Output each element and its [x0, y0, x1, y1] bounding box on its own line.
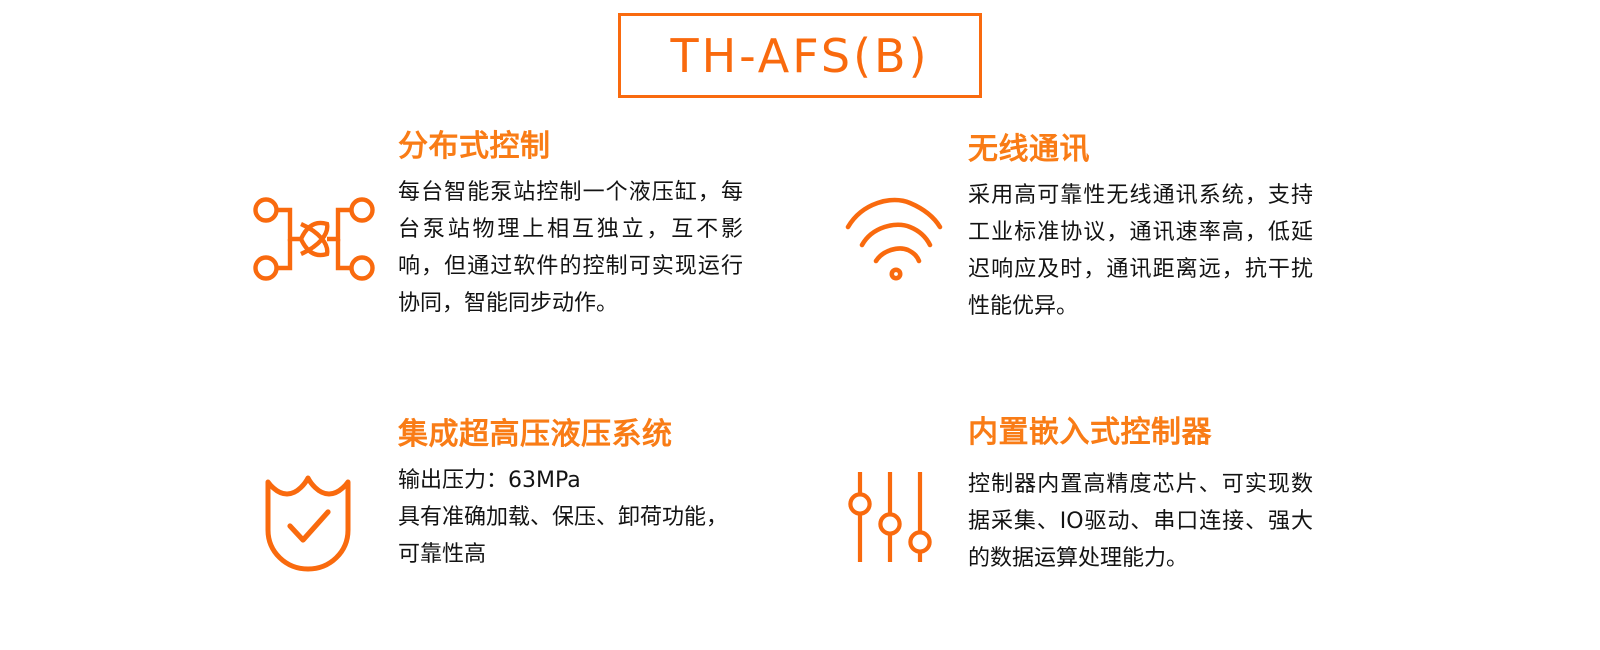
- product-model-badge: TH-AFS(B): [618, 13, 982, 98]
- feature-text-block: 无线通讯 采用高可靠性无线通讯系统，支持工业标准协议，通讯速率高，低延迟响应及时…: [968, 133, 1313, 325]
- feature-title: 无线通讯: [968, 133, 1313, 167]
- feature-title: 分布式控制: [398, 130, 743, 164]
- feature-description: 控制器内置高精度芯片、可实现数据采集、IO驱动、串口连接、强大的数据运算处理能力…: [968, 466, 1313, 577]
- shield-check-icon: [262, 472, 354, 576]
- sliders-icon: [850, 470, 930, 566]
- distributed-network-icon: [252, 196, 376, 282]
- feature-description-line-2: 具有准确加载、保压、卸荷功能，可靠性高: [398, 499, 743, 573]
- feature-title: 内置嵌入式控制器: [968, 416, 1212, 450]
- feature-overview-page: TH-AFS(B) 分布式控制 每台智能泵站控制一个液压缸，每台: [0, 0, 1600, 650]
- feature-title: 集成超高压液压系统: [398, 418, 743, 452]
- feature-description-line-1: 输出压力：63MPa: [398, 462, 743, 499]
- feature-text-block: 集成超高压液压系统 输出压力：63MPa 具有准确加载、保压、卸荷功能，可靠性高: [398, 418, 743, 573]
- feature-description: 采用高可靠性无线通讯系统，支持工业标准协议，通讯速率高，低延迟响应及时，通讯距离…: [968, 177, 1313, 325]
- feature-description: 输出压力：63MPa 具有准确加载、保压、卸荷功能，可靠性高: [398, 462, 743, 573]
- feature-text-block: 内置嵌入式控制器 控制器内置高精度芯片、可实现数据采集、IO驱动、串口连接、强大…: [968, 466, 1313, 577]
- feature-description: 每台智能泵站控制一个液压缸，每台泵站物理上相互独立，互不影响，但通过软件的控制可…: [398, 174, 743, 322]
- feature-text-block: 分布式控制 每台智能泵站控制一个液压缸，每台泵站物理上相互独立，互不影响，但通过…: [398, 130, 743, 322]
- wifi-icon: [844, 195, 944, 281]
- page-title: TH-AFS(B): [670, 33, 929, 79]
